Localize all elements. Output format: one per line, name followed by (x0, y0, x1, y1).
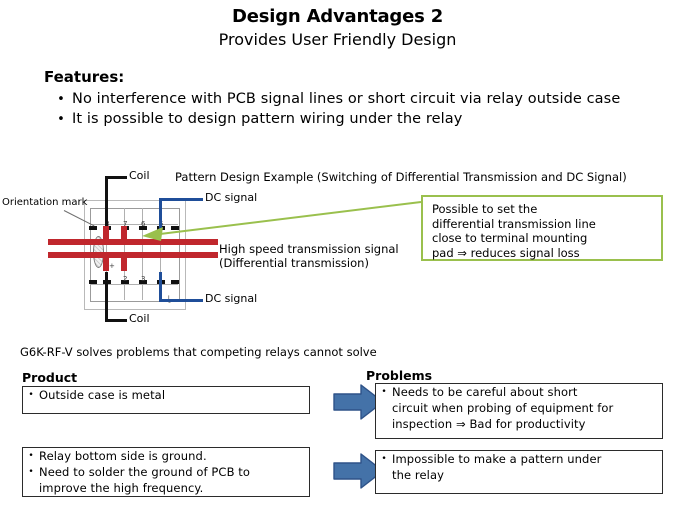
coil-label-bottom: Coil (129, 312, 150, 325)
features-heading: Features: (44, 68, 124, 86)
list-item: • Need to solder the ground of PCB to im… (23, 464, 309, 496)
pin-number: 2 (123, 275, 127, 283)
problem-line-2: circuit when probing of equipment for (392, 401, 613, 415)
product-box-2: • Relay bottom side is ground. • Need to… (22, 447, 310, 497)
product-list-2: • Relay bottom side is ground. • Need to… (23, 448, 309, 496)
bullet-icon: • (23, 387, 39, 403)
problem-text: Impossible to make a pattern under the r… (392, 451, 601, 483)
problem-box-2: • Impossible to make a pattern under the… (375, 450, 663, 494)
callout-text: Possible to set the differential transmi… (423, 197, 661, 260)
product-text: Outside case is metal (39, 387, 165, 403)
problem-box-1: • Needs to be careful about short circui… (375, 383, 663, 439)
list-item: • Needs to be careful about short circui… (376, 384, 662, 432)
product-line-2: Need to solder the ground of PCB to (39, 465, 250, 479)
bullet-icon: • (376, 451, 392, 467)
problem-line-2: the relay (392, 468, 444, 482)
coil-leader-bottom-vertical (105, 272, 108, 322)
callout-line-3: close to terminal mounting (432, 231, 587, 245)
problem-list-2: • Impossible to make a pattern under the… (376, 451, 662, 483)
bullet-icon: • (23, 464, 39, 480)
problem-line-3: inspection ⇒ Bad for productivity (392, 417, 586, 431)
features-list: • No interference with PCB signal lines … (50, 90, 650, 130)
slide-subtitle: Provides User Friendly Design (0, 30, 675, 49)
pattern-design-diagram: Pattern Design Example (Switching of Dif… (0, 160, 675, 340)
bullet-icon: • (50, 90, 72, 109)
problems-heading: Problems (366, 368, 432, 383)
product-line-3: improve the high frequency. (39, 481, 203, 495)
bullet-icon: • (376, 384, 392, 400)
product-text: Relay bottom side is ground. (39, 448, 207, 464)
product-box-1: • Outside case is metal (22, 386, 310, 414)
coil-leader-bottom-horizontal (105, 319, 127, 322)
product-heading: Product (22, 370, 77, 385)
solve-statement: G6K-RF-V solves problems that competing … (20, 345, 377, 359)
list-item: • Outside case is metal (23, 387, 309, 403)
slide-canvas: Design Advantages 2 Provides User Friend… (0, 0, 675, 506)
feature-item: • It is possible to design pattern wirin… (50, 110, 650, 129)
slide-title: Design Advantages 2 (0, 6, 675, 27)
feature-item: • No interference with PCB signal lines … (50, 90, 650, 109)
problem-list-1: • Needs to be careful about short circui… (376, 384, 662, 432)
bullet-icon: • (50, 110, 72, 129)
list-item: • Relay bottom side is ground. (23, 448, 309, 464)
product-text: Need to solder the ground of PCB to impr… (39, 464, 250, 496)
callout-green-arrow (0, 160, 430, 270)
pin-number: 3 (141, 275, 145, 283)
solder-pad (171, 280, 179, 284)
list-item: • Impossible to make a pattern under the… (376, 451, 662, 483)
feature-text: No interference with PCB signal lines or… (72, 90, 620, 109)
callout-box: Possible to set the differential transmi… (421, 195, 663, 261)
product-list-1: • Outside case is metal (23, 387, 309, 403)
problem-text: Needs to be careful about short circuit … (392, 384, 613, 432)
bullet-icon: • (23, 448, 39, 464)
solder-pad (89, 280, 97, 284)
problem-line-1: Needs to be careful about short (392, 385, 578, 399)
callout-line-2: differential transmission line (432, 217, 596, 231)
dc-signal-label-bottom: DC signal (205, 292, 257, 305)
problem-line-1: Impossible to make a pattern under (392, 452, 601, 466)
feature-text: It is possible to design pattern wiring … (72, 110, 462, 129)
callout-line-4: pad ⇒ reduces signal loss (432, 246, 580, 260)
callout-line-1: Possible to set the (432, 202, 537, 216)
dc-signal-leader-bottom-horizontal (159, 299, 203, 302)
grid-line (90, 284, 178, 285)
dc-signal-leader-bottom-vertical (159, 272, 162, 302)
